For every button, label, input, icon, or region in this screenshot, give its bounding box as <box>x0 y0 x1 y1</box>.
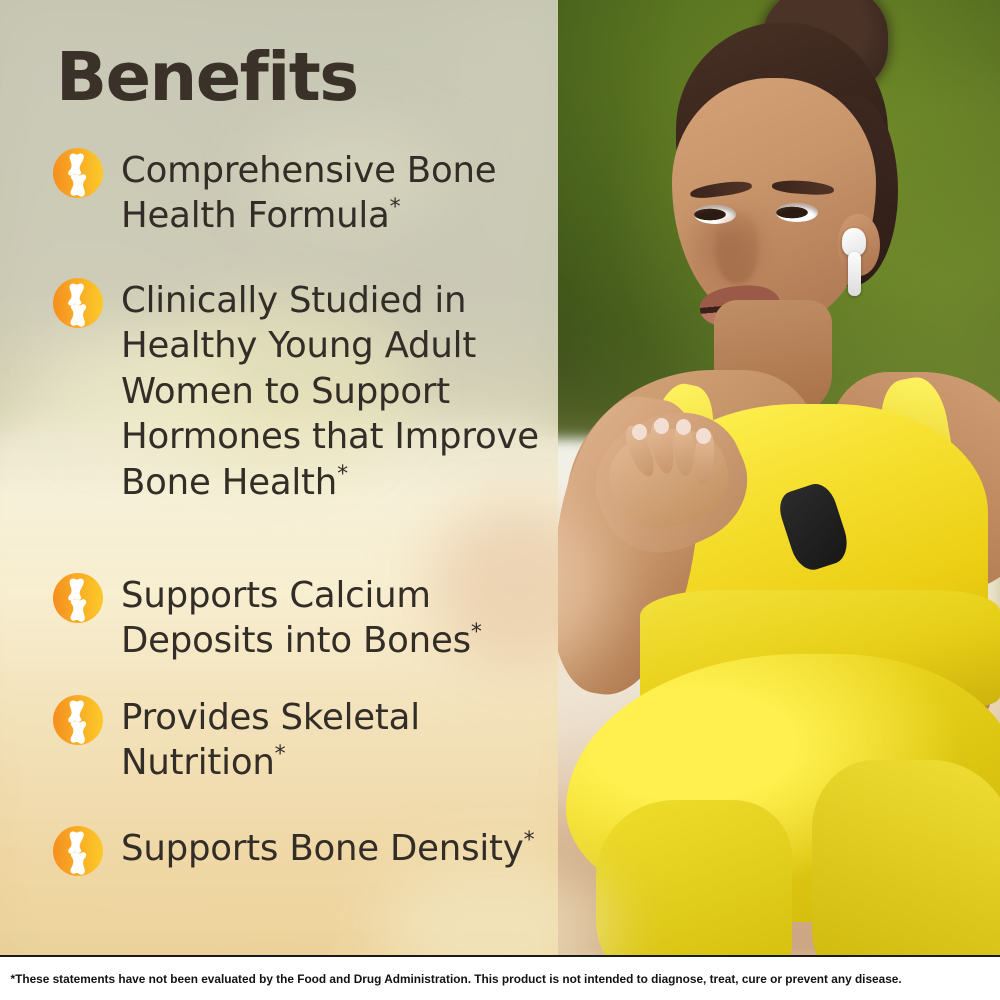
list-item-label: Supports Bone Density* <box>121 826 534 871</box>
fda-disclaimer-text: *These statements have not been evaluate… <box>0 972 902 986</box>
bone-joint-icon <box>53 826 103 876</box>
list-item: Comprehensive Bone Health Formula* <box>53 148 553 239</box>
bone-joint-icon <box>53 278 103 328</box>
list-item: Supports Calcium Deposits into Bones* <box>53 573 553 664</box>
bone-joint-icon <box>53 573 103 623</box>
fingernail <box>632 424 647 440</box>
list-item-label: Comprehensive Bone Health Formula* <box>121 148 553 239</box>
earbud-stem <box>848 252 861 296</box>
fingernail <box>654 418 669 434</box>
eye-right <box>776 203 818 222</box>
list-item: Supports Bone Density* <box>53 826 534 876</box>
fingernail <box>676 419 691 435</box>
nose <box>716 214 758 284</box>
yellow-leggings-thigh-back <box>812 760 1000 955</box>
bone-joint-icon <box>53 695 103 745</box>
benefits-text-panel: Benefits Comprehensive Bone Health Formu… <box>0 0 558 955</box>
fingernail <box>696 428 711 444</box>
benefits-poster: Benefits Comprehensive Bone Health Formu… <box>0 0 1000 1000</box>
list-item: Provides Skeletal Nutrition* <box>53 695 553 786</box>
list-item-label: Clinically Studied in Healthy Young Adul… <box>121 278 553 505</box>
list-item: Clinically Studied in Healthy Young Adul… <box>53 278 553 505</box>
page-title: Benefits <box>56 44 358 111</box>
yellow-leggings-thigh-front <box>596 800 792 955</box>
fda-disclaimer-bar: *These statements have not been evaluate… <box>0 955 1000 1000</box>
list-item-label: Provides Skeletal Nutrition* <box>121 695 553 786</box>
bone-joint-icon <box>53 148 103 198</box>
list-item-label: Supports Calcium Deposits into Bones* <box>121 573 553 664</box>
